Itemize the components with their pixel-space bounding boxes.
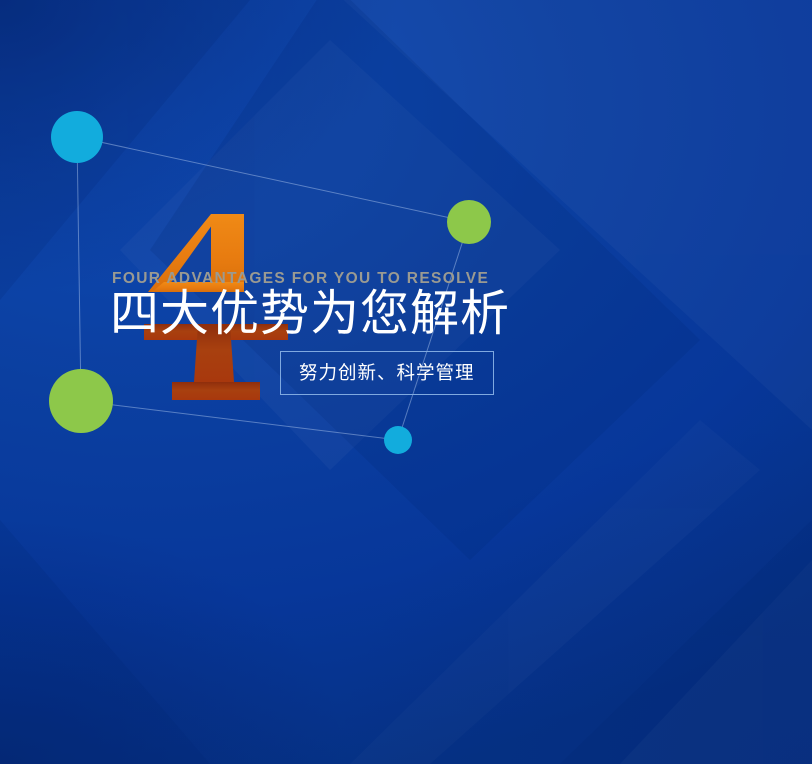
tagline-badge: 努力创新、科学管理 [280,351,494,395]
promo-banner: FOUR ADVANTAGES FOR YOU TO RESOLVE 四大优势为… [0,0,812,764]
node-dot-cyan-top [51,111,103,163]
page-title: 四大优势为您解析 [110,288,510,341]
edge-greenleft-cyanbottom [81,401,398,440]
node-dot-cyan-bottom [384,426,412,454]
node-dot-green-right [447,200,491,244]
edge-cyantop-greenleft [77,137,81,401]
edge-cyantop-greenright [77,137,469,222]
node-dot-green-left [49,369,113,433]
english-subtitle: FOUR ADVANTAGES FOR YOU TO RESOLVE [112,270,489,288]
